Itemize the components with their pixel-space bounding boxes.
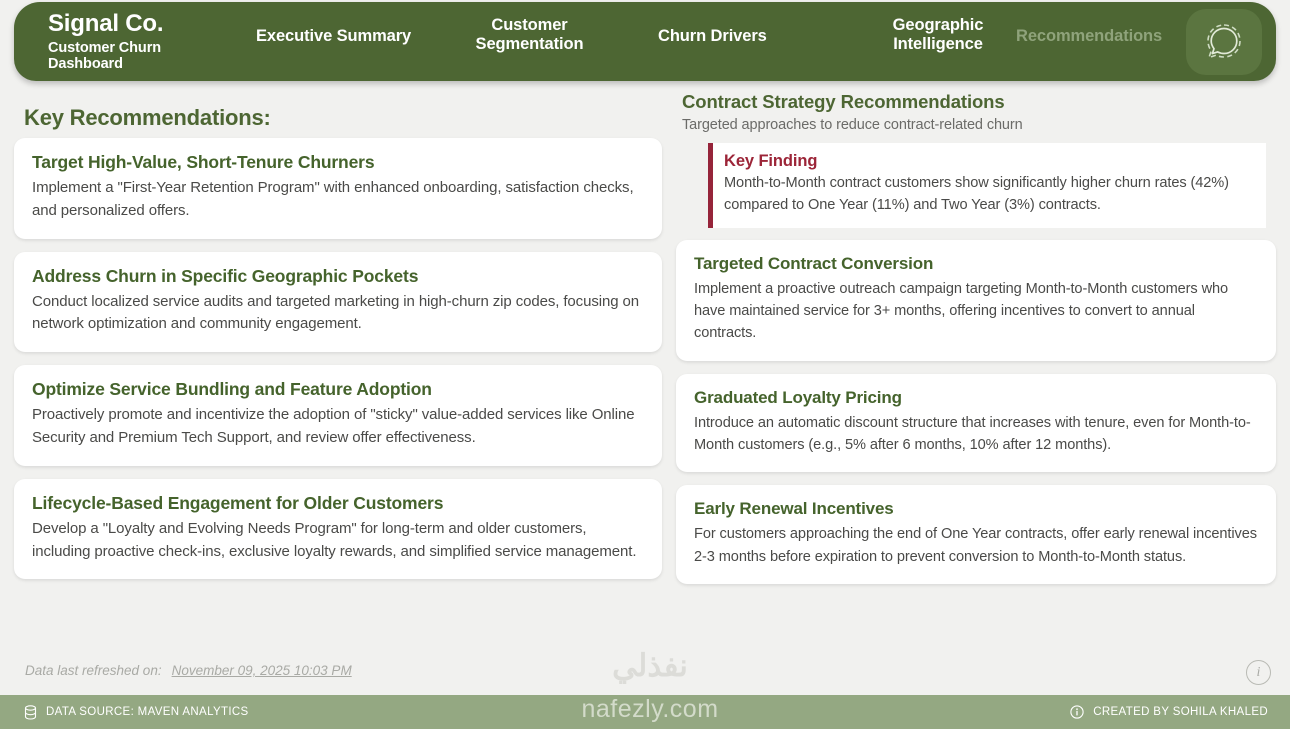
tab-churn-drivers[interactable]: Churn Drivers (658, 27, 798, 46)
right-column-header: Contract Strategy Recommendations Target… (676, 84, 1276, 133)
signal-logo-button[interactable] (1186, 9, 1262, 75)
info-icon (1070, 705, 1084, 719)
card-body: Implement a proactive outreach campaign … (694, 278, 1258, 345)
footer-credit: CREATED BY SOHILA KHALED (1070, 705, 1268, 719)
card-title: Target High-Value, Short-Tenure Churners (32, 152, 644, 173)
footer-data-source-label: DATA SOURCE: MAVEN ANALYTICS (46, 706, 249, 718)
tab-executive-summary[interactable]: Executive Summary (256, 27, 436, 46)
brand-subtitle: Customer Churn Dashboard (48, 40, 238, 72)
speech-bubble-signal-icon (1199, 17, 1249, 67)
refresh-label: Data last refreshed on: (25, 663, 162, 678)
tab-customer-segmentation[interactable]: CustomerSegmentation (462, 16, 597, 55)
brand-title: Signal Co. (48, 11, 238, 38)
card-body: Proactively promote and incentivize the … (32, 404, 644, 450)
app-footer: DATA SOURCE: MAVEN ANALYTICS CREATED BY … (0, 695, 1290, 729)
recommendation-card[interactable]: Address Churn in Specific Geographic Poc… (14, 252, 662, 353)
card-body: Introduce an automatic discount structur… (694, 412, 1258, 457)
key-finding-body: Month-to-Month contract customers show s… (724, 173, 1252, 217)
contract-strategy-title: Contract Strategy Recommendations (682, 91, 1276, 113)
refresh-strip: Data last refreshed on:November 09, 2025… (0, 652, 1290, 695)
contract-strategy-card[interactable]: Graduated Loyalty Pricing Introduce an a… (676, 374, 1276, 473)
refresh-timestamp: November 09, 2025 10:03 PM (172, 663, 352, 678)
recommendation-card[interactable]: Optimize Service Bundling and Feature Ad… (14, 365, 662, 466)
key-finding-callout: Key Finding Month-to-Month contract cust… (708, 143, 1266, 228)
card-title: Lifecycle-Based Engagement for Older Cus… (32, 493, 644, 514)
card-title: Targeted Contract Conversion (694, 254, 1258, 274)
key-finding-title: Key Finding (724, 152, 1252, 171)
card-body: Implement a "First-Year Retention Progra… (32, 177, 644, 223)
recommendation-card[interactable]: Lifecycle-Based Engagement for Older Cus… (14, 479, 662, 580)
main-content: Key Recommendations: Target High-Value, … (0, 84, 1290, 649)
left-column-header: Key Recommendations: (14, 84, 662, 138)
recommendation-card[interactable]: Target High-Value, Short-Tenure Churners… (14, 138, 662, 239)
card-title: Early Renewal Incentives (694, 499, 1258, 519)
footer-credit-label: CREATED BY SOHILA KHALED (1093, 706, 1268, 718)
card-title: Optimize Service Bundling and Feature Ad… (32, 379, 644, 400)
dashboard-page: Signal Co. Customer Churn Dashboard Exec… (0, 0, 1290, 729)
footer-data-source: DATA SOURCE: MAVEN ANALYTICS (24, 705, 249, 720)
tab-geographic-intelligence[interactable]: GeographicIntelligence (868, 16, 1008, 55)
card-title: Graduated Loyalty Pricing (694, 388, 1258, 408)
card-body: For customers approaching the end of One… (694, 523, 1258, 568)
contract-strategy-subtitle: Targeted approaches to reduce contract-r… (682, 117, 1276, 133)
card-title: Address Churn in Specific Geographic Poc… (32, 266, 644, 287)
database-icon (24, 705, 37, 720)
left-column: Key Recommendations: Target High-Value, … (14, 84, 662, 592)
key-recommendations-title: Key Recommendations: (24, 105, 662, 131)
card-body: Conduct localized service audits and tar… (32, 291, 644, 337)
card-body: Develop a "Loyalty and Evolving Needs Pr… (32, 518, 644, 564)
tab-recommendations[interactable]: Recommendations (1016, 27, 1201, 46)
refresh-label-group: Data last refreshed on:November 09, 2025… (25, 663, 352, 678)
contract-strategy-card[interactable]: Early Renewal Incentives For customers a… (676, 485, 1276, 584)
right-column: Contract Strategy Recommendations Target… (676, 84, 1276, 597)
main-navigation: Executive Summary CustomerSegmentation C… (238, 2, 1276, 81)
app-header: Signal Co. Customer Churn Dashboard Exec… (14, 2, 1276, 81)
contract-strategy-card[interactable]: Targeted Contract Conversion Implement a… (676, 240, 1276, 361)
info-icon[interactable]: i (1246, 660, 1271, 685)
brand-block: Signal Co. Customer Churn Dashboard (14, 11, 238, 73)
